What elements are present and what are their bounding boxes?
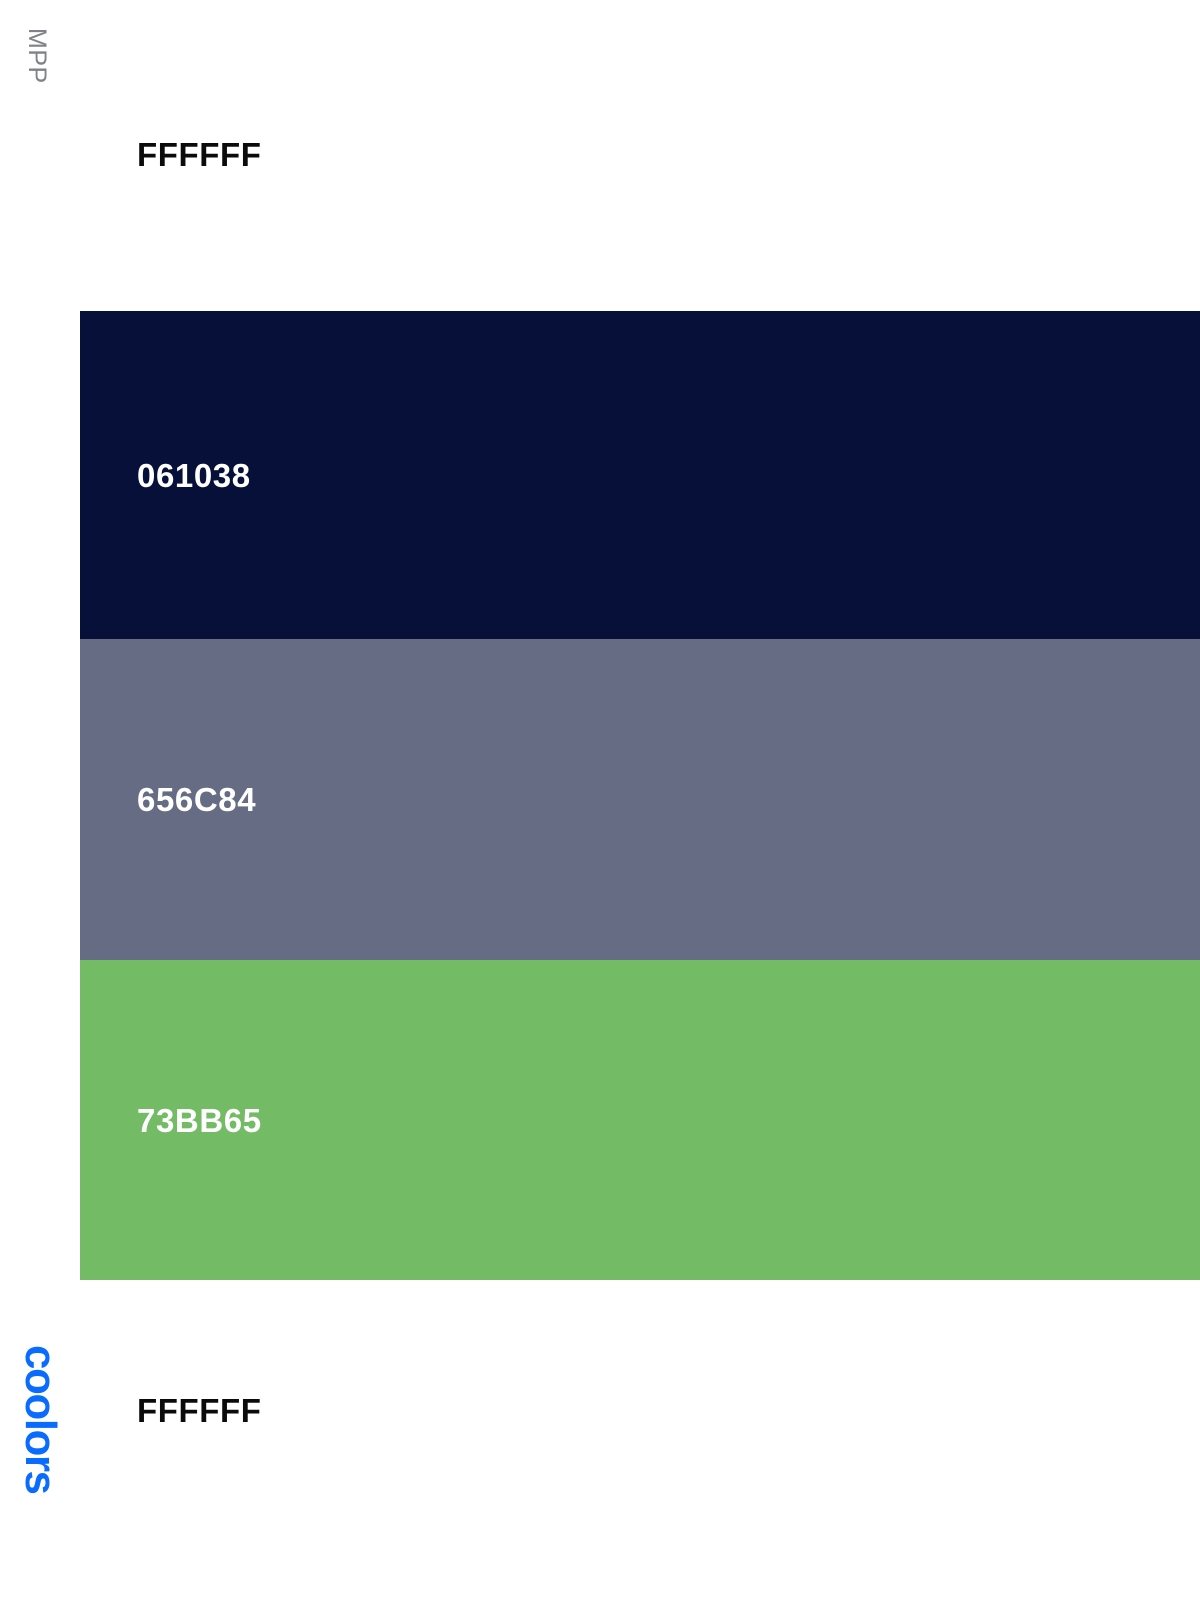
swatch-stack: 061038 656C84 73BB65 xyxy=(80,311,1200,1280)
swatch-061038[interactable]: 061038 xyxy=(80,311,1200,639)
swatch-label-white-top: FFFFFF xyxy=(137,138,262,171)
coolors-logo[interactable]: coolors xyxy=(18,1345,66,1545)
palette-title: MPP xyxy=(24,28,58,148)
swatch-label-656C84: 656C84 xyxy=(137,783,256,816)
palette-title-text: MPP xyxy=(24,28,49,84)
swatch-73BB65[interactable]: 73BB65 xyxy=(80,960,1200,1280)
coolors-logo-text: coolors xyxy=(18,1345,62,1493)
swatch-label-73BB65: 73BB65 xyxy=(137,1104,262,1137)
swatch-656C84[interactable]: 656C84 xyxy=(80,639,1200,960)
swatch-label-061038: 061038 xyxy=(137,459,251,492)
swatch-label-white-bottom: FFFFFF xyxy=(137,1394,262,1427)
palette-page: MPP FFFFFF 061038 656C84 73BB65 FFFFFF c… xyxy=(0,0,1200,1600)
